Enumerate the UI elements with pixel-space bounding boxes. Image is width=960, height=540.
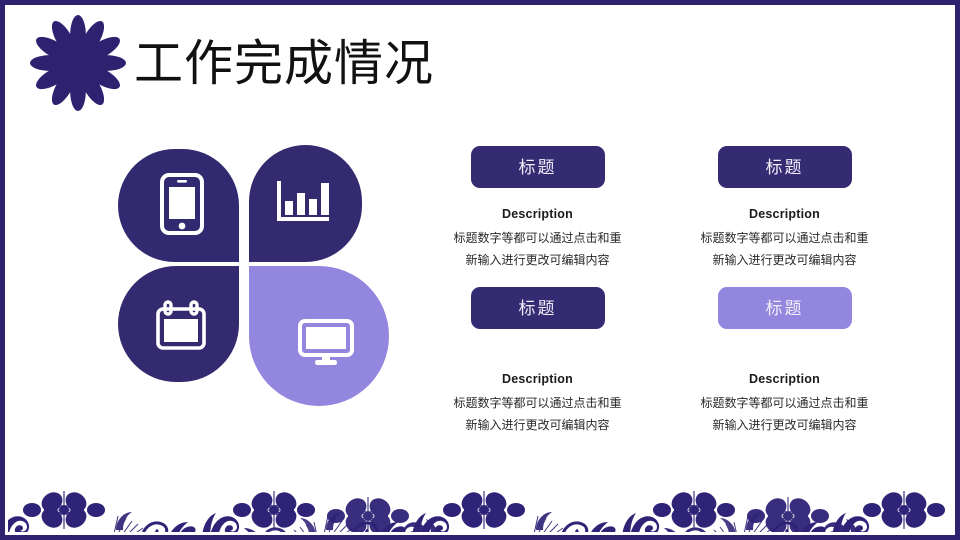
petal-bottom-left[interactable] <box>118 266 239 382</box>
monitor-icon <box>298 319 354 367</box>
petal-top-left[interactable] <box>118 149 239 262</box>
block-3-desc-title: Description <box>430 372 645 386</box>
slide-canvas: 工作完成情况 <box>0 0 960 540</box>
floral-filigree-border <box>0 482 960 540</box>
petal-bottom-right[interactable] <box>249 266 389 406</box>
block-3-title-button[interactable]: 标题 <box>471 287 605 329</box>
content-block-2: 标题 Description 标题数字等都可以通过点击和重 新输入进行更改可编辑… <box>677 146 892 271</box>
calendar-icon <box>155 299 207 351</box>
block-1-title-button[interactable]: 标题 <box>471 146 605 188</box>
block-2-desc-title: Description <box>677 207 892 221</box>
block-4-desc-body: 标题数字等都可以通过点击和重 新输入进行更改可编辑内容 <box>677 392 892 436</box>
block-row-bottom: 标题 Description 标题数字等都可以通过点击和重 新输入进行更改可编辑… <box>430 287 930 436</box>
icon-clover-graphic <box>118 145 378 405</box>
block-row-top: 标题 Description 标题数字等都可以通过点击和重 新输入进行更改可编辑… <box>430 146 930 271</box>
block-4-desc-title: Description <box>677 372 892 386</box>
content-block-4: 标题 Description 标题数字等都可以通过点击和重 新输入进行更改可编辑… <box>677 287 892 436</box>
content-blocks: 标题 Description 标题数字等都可以通过点击和重 新输入进行更改可编辑… <box>430 146 930 436</box>
content-block-1: 标题 Description 标题数字等都可以通过点击和重 新输入进行更改可编辑… <box>430 146 645 271</box>
block-2-title-button[interactable]: 标题 <box>718 146 852 188</box>
block-3-desc-body: 标题数字等都可以通过点击和重 新输入进行更改可编辑内容 <box>430 392 645 436</box>
content-block-3: 标题 Description 标题数字等都可以通过点击和重 新输入进行更改可编辑… <box>430 287 645 436</box>
smartphone-icon <box>160 173 204 235</box>
block-1-desc-body: 标题数字等都可以通过点击和重 新输入进行更改可编辑内容 <box>430 227 645 271</box>
daisy-flower-logo <box>30 15 126 111</box>
bar-chart-icon <box>277 179 333 227</box>
page-title: 工作完成情况 <box>134 40 434 89</box>
block-2-desc-body: 标题数字等都可以通过点击和重 新输入进行更改可编辑内容 <box>677 227 892 271</box>
petal-top-right[interactable] <box>249 145 362 262</box>
slide-header: 工作完成情况 <box>30 18 434 108</box>
block-4-title-button[interactable]: 标题 <box>718 287 852 329</box>
block-1-desc-title: Description <box>430 207 645 221</box>
